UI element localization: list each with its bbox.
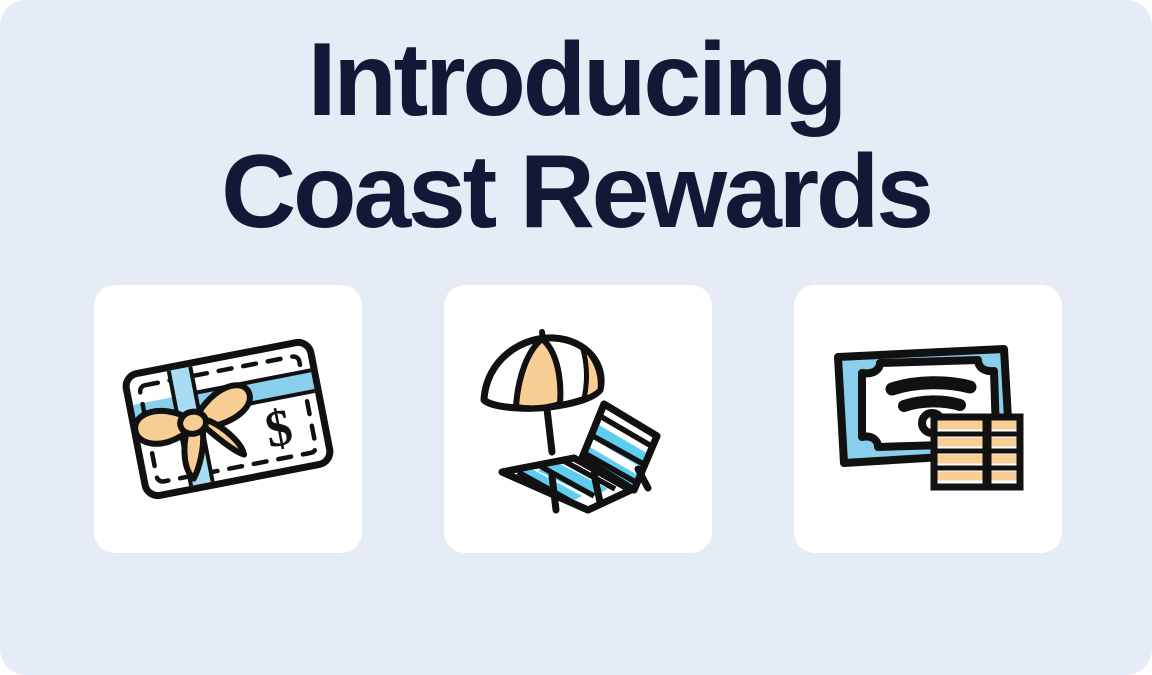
cash-and-coins-icon (828, 329, 1028, 509)
page-title: Introducing Coast Rewards (0, 24, 1152, 248)
page-title-line-1: Introducing (0, 24, 1152, 136)
feature-card-gift-card[interactable]: $ (94, 285, 362, 553)
feature-card-row: $ (94, 285, 1062, 553)
feature-card-beach[interactable] (444, 285, 712, 553)
feature-card-cash[interactable] (794, 285, 1062, 553)
gift-card-icon: $ (113, 319, 343, 519)
page-title-line-2: Coast Rewards (0, 136, 1152, 248)
beach-umbrella-lounger-icon (478, 324, 678, 514)
promo-banner: Introducing Coast Rewards (0, 0, 1152, 675)
